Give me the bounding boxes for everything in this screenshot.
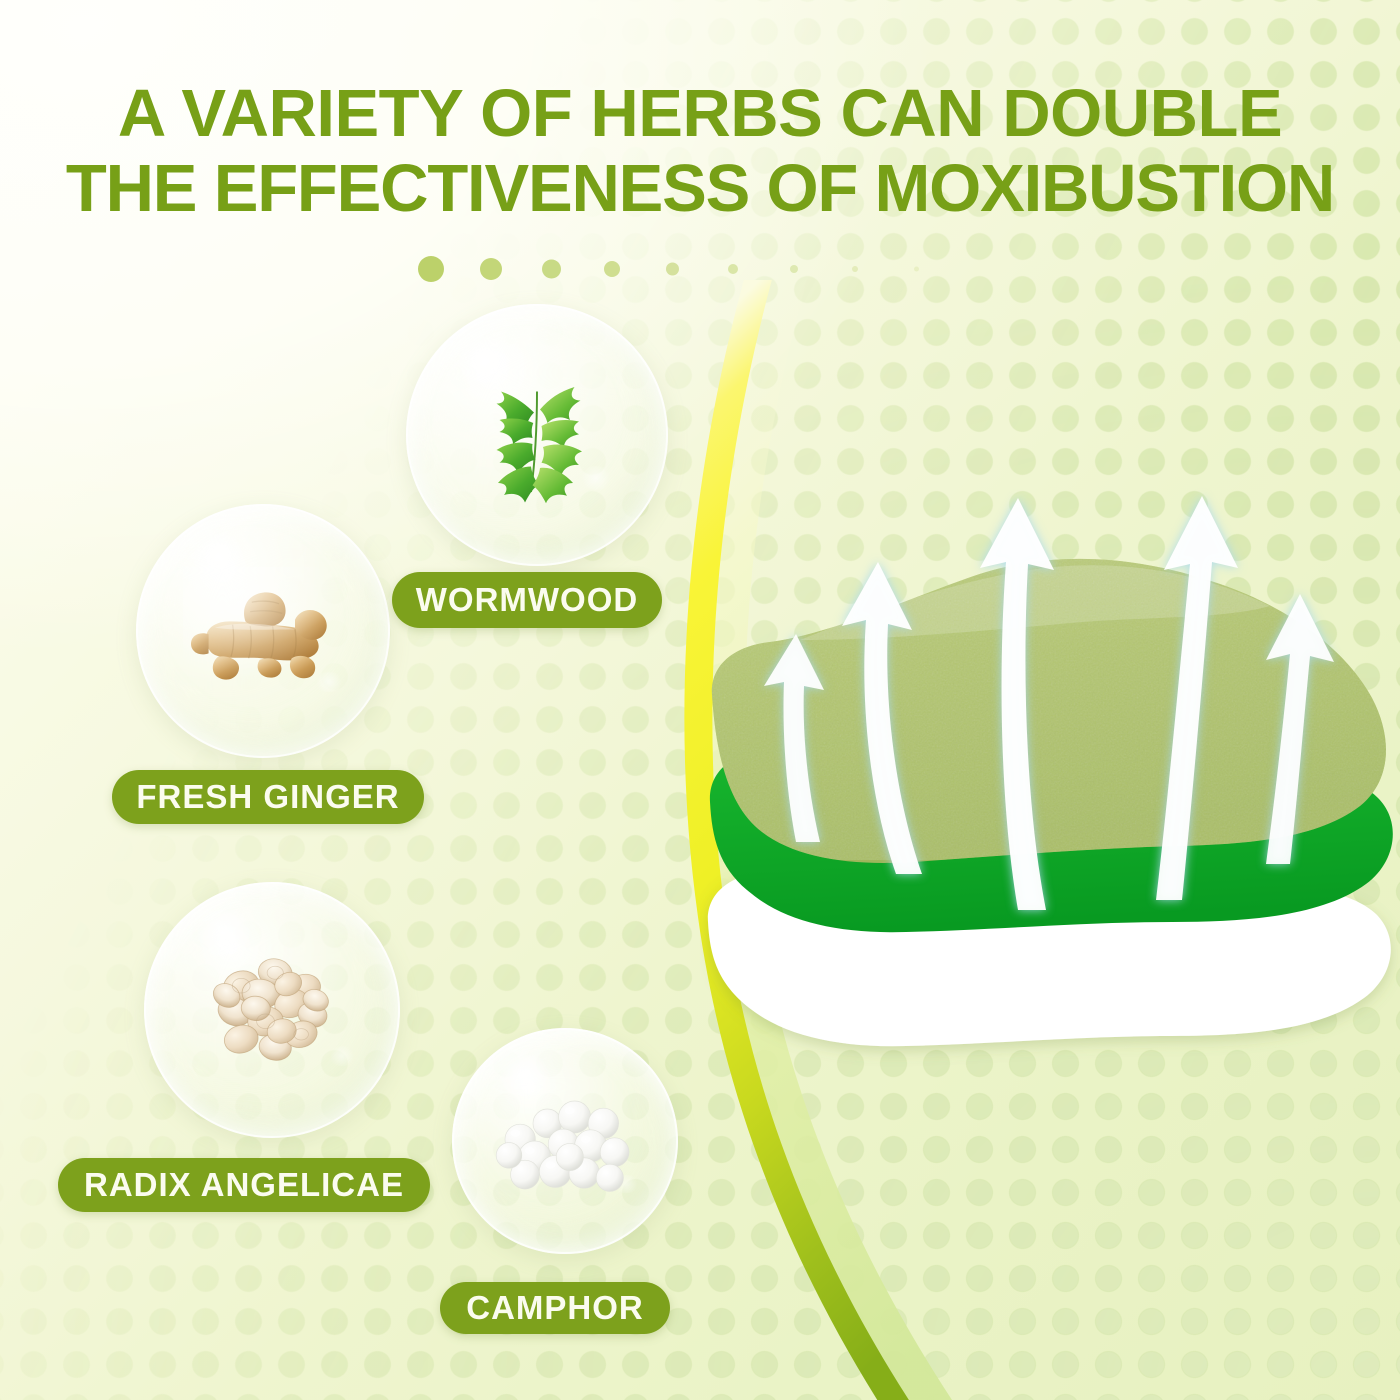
decorative-dot — [790, 265, 798, 273]
decorative-dot — [480, 258, 502, 280]
decorative-dot — [418, 256, 444, 282]
moxibustion-patch-layers — [700, 470, 1400, 1090]
page-title: A VARIETY OF HERBS CAN DOUBLE THE EFFECT… — [0, 76, 1400, 226]
label-camphor-text: CAMPHOR — [466, 1289, 644, 1327]
bubble-radix-angelicae — [144, 882, 400, 1138]
bubble-camphor — [452, 1028, 678, 1254]
bubble-wormwood — [406, 304, 668, 566]
poster-root: A VARIETY OF HERBS CAN DOUBLE THE EFFECT… — [0, 0, 1400, 1400]
decorative-dot — [604, 261, 620, 277]
decorative-dot — [914, 267, 919, 272]
label-radix-angelicae[interactable]: RADIX ANGELICAE — [58, 1158, 430, 1212]
page-title-line-2: THE EFFECTIVENESS OF MOXIBUSTION — [18, 151, 1382, 226]
label-fresh-ginger-text: FRESH GINGER — [136, 778, 399, 816]
label-camphor[interactable]: CAMPHOR — [440, 1282, 670, 1334]
angelica-slices-icon — [191, 937, 353, 1083]
label-fresh-ginger[interactable]: FRESH GINGER — [112, 770, 424, 824]
camphor-balls-icon — [485, 1077, 645, 1205]
wormwood-leaf-icon — [462, 360, 612, 510]
label-wormwood[interactable]: WORMWOOD — [392, 572, 662, 628]
label-wormwood-text: WORMWOOD — [416, 581, 638, 619]
page-title-line-1: A VARIETY OF HERBS CAN DOUBLE — [18, 76, 1382, 151]
decorative-dot — [542, 260, 561, 279]
decorative-dot — [728, 264, 738, 274]
bubble-fresh-ginger — [136, 504, 390, 758]
label-radix-angelicae-text: RADIX ANGELICAE — [84, 1166, 404, 1204]
decorative-dot — [666, 263, 679, 276]
ginger-root-icon — [183, 567, 343, 695]
decorative-dot — [852, 266, 858, 272]
decorative-dot-row — [418, 252, 978, 286]
